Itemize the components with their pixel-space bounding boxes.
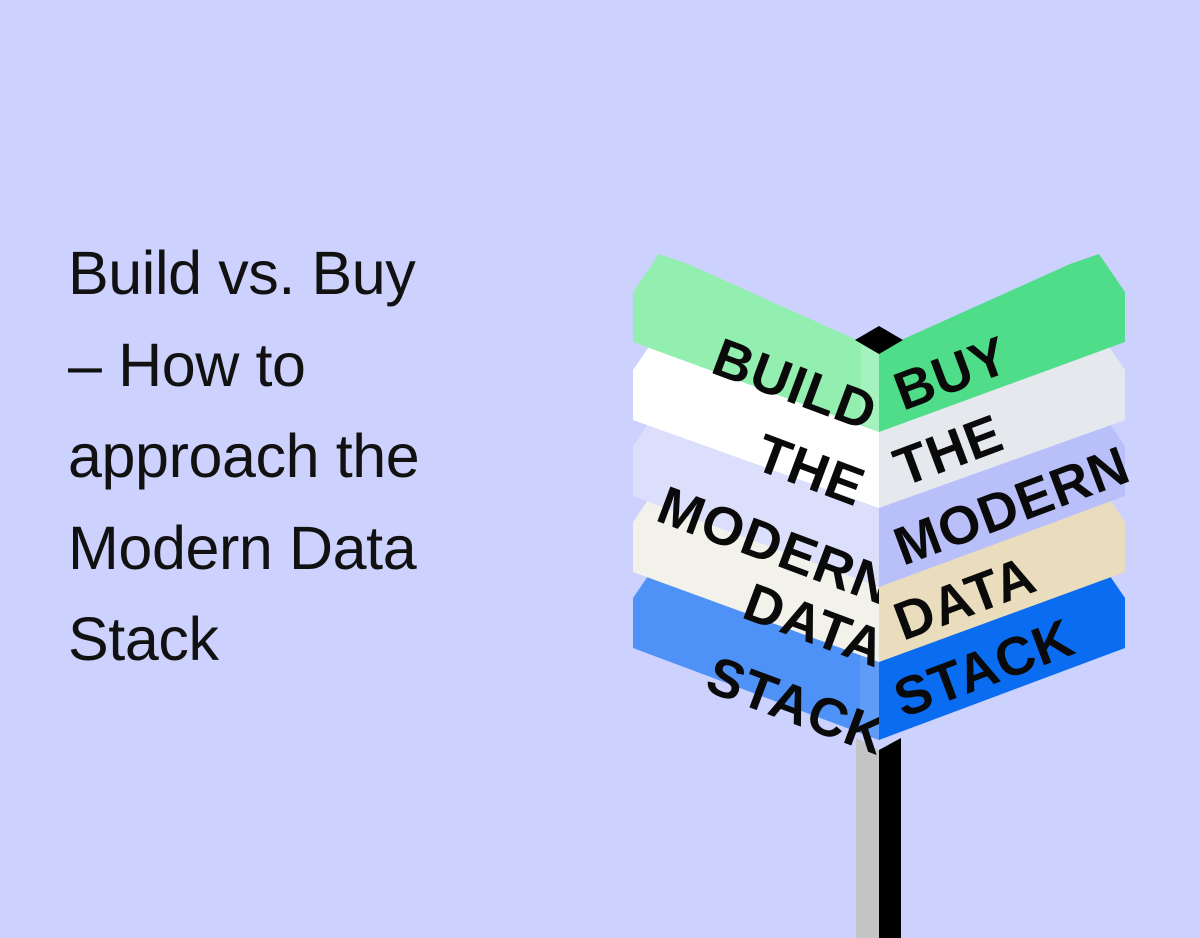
left-arm-group: STACK DATA MODERN THE BUILD bbox=[633, 254, 901, 767]
right-arm-group: STACK DATA MODERN THE BUY bbox=[879, 254, 1138, 740]
post-left-face bbox=[856, 738, 879, 938]
signpost-post bbox=[856, 738, 901, 938]
signpost-graphic: STACK DATA MODERN THE BUILD bbox=[0, 0, 1200, 938]
poster-canvas: Build vs. Buy – How to approach the Mode… bbox=[0, 0, 1200, 938]
post-right-face bbox=[879, 738, 901, 938]
